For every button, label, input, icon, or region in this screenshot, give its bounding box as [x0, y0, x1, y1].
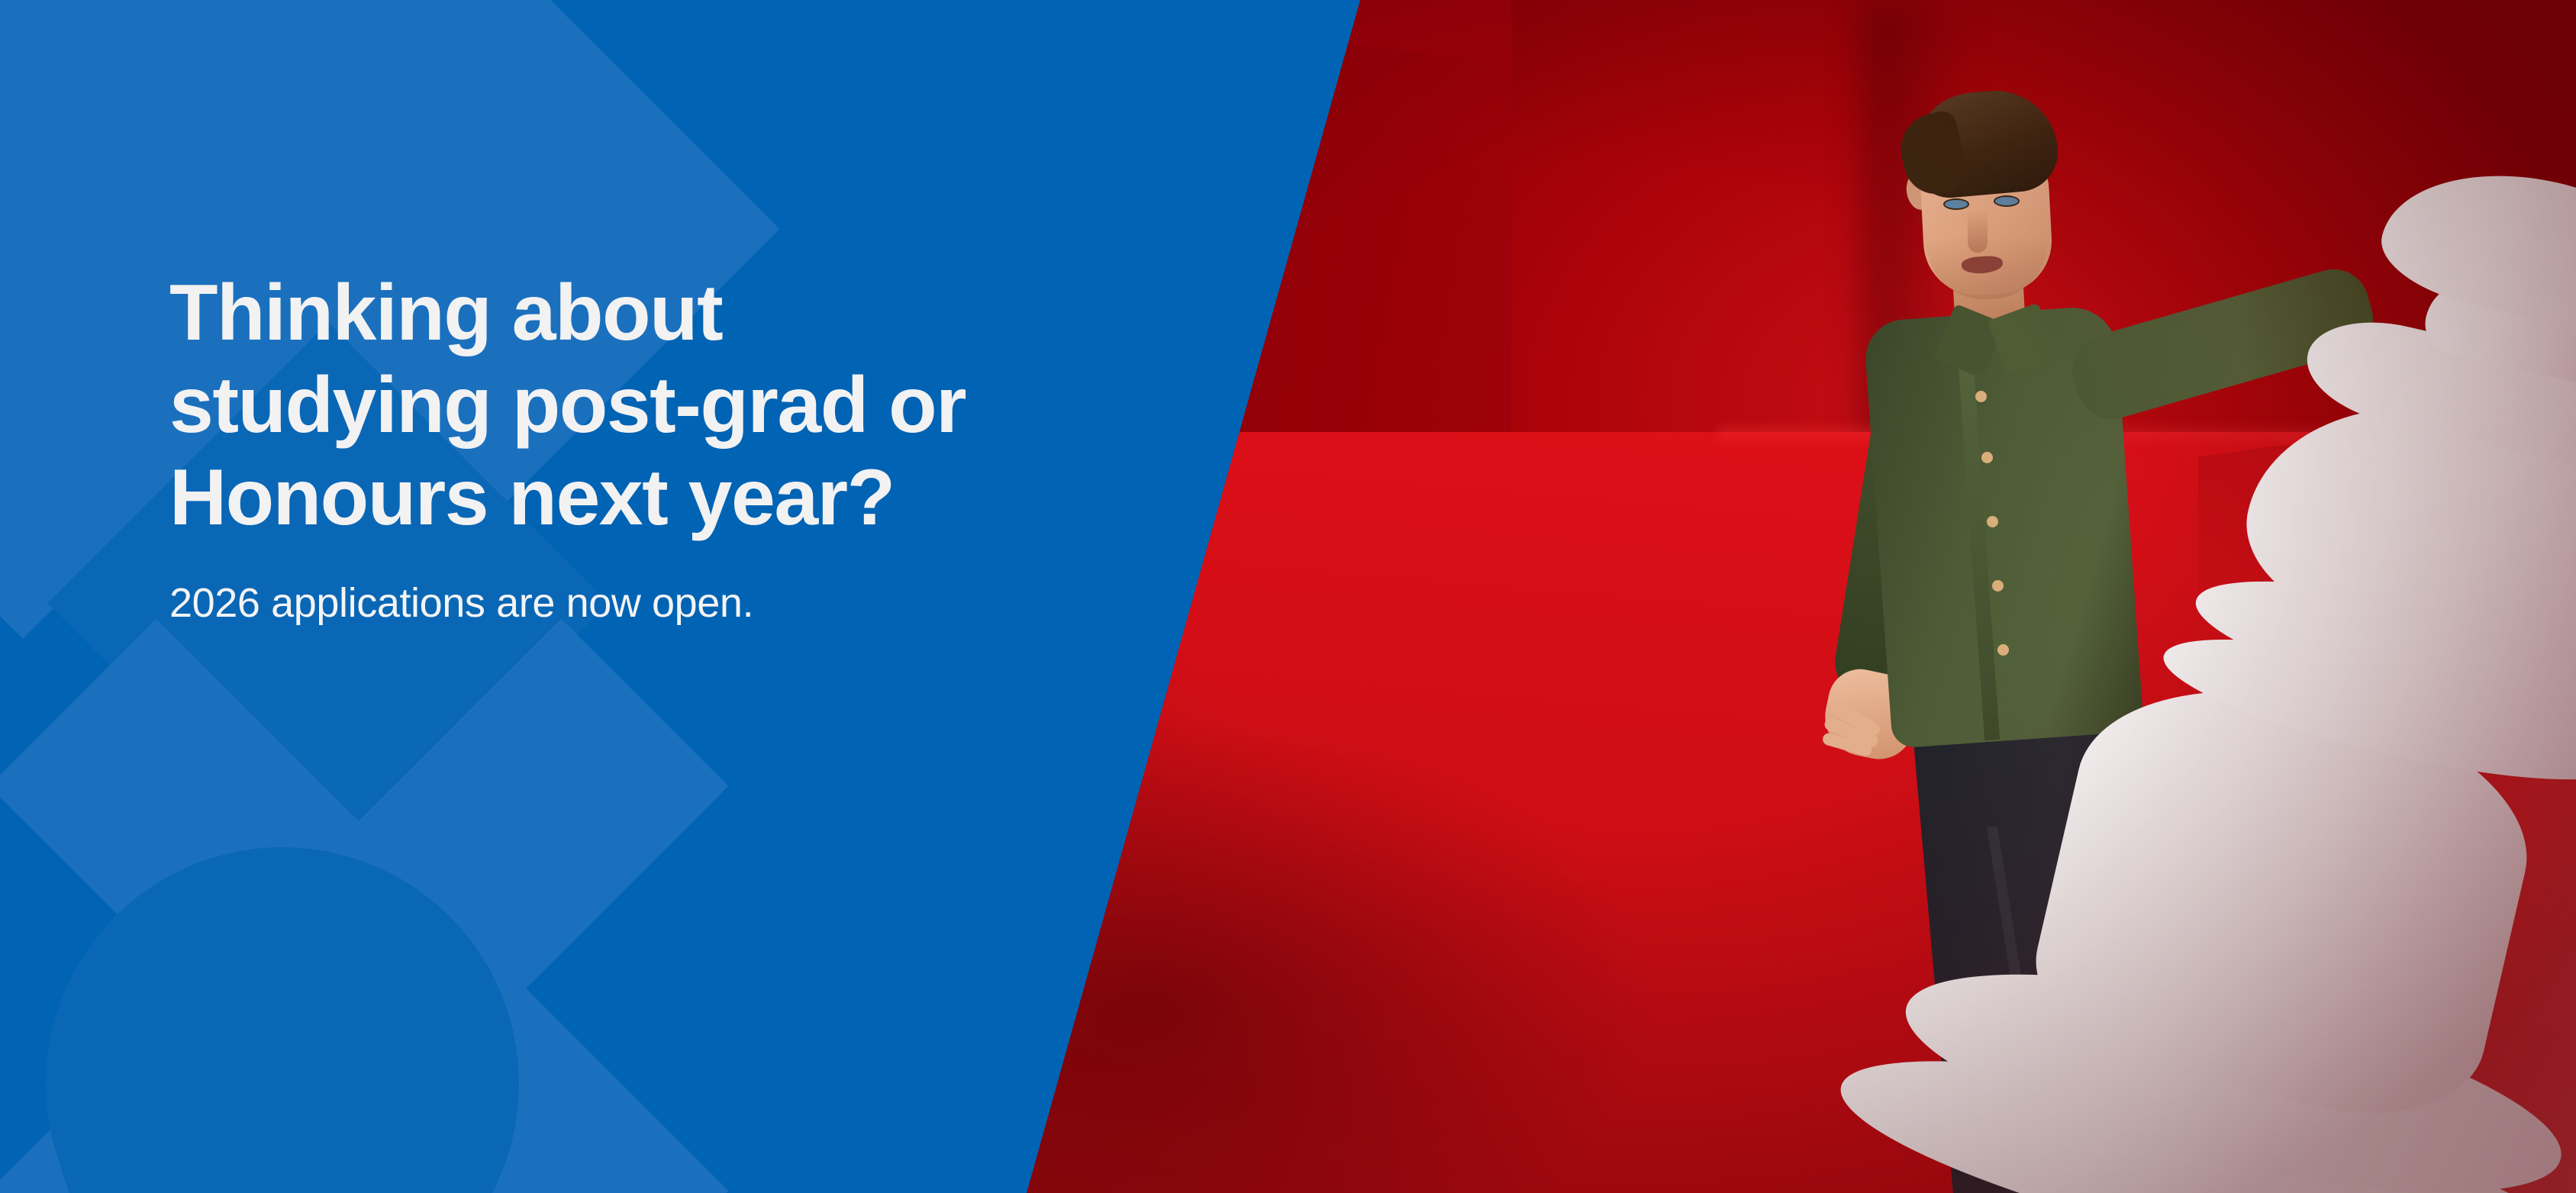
promo-banner: Thinking about studying post-grad or Hon…: [0, 0, 2576, 1193]
banner-headline: Thinking about studying post-grad or Hon…: [169, 267, 1124, 544]
banner-subheadline: 2026 applications are now open.: [169, 579, 1124, 627]
banner-copy-block: Thinking about studying post-grad or Hon…: [169, 267, 1124, 627]
